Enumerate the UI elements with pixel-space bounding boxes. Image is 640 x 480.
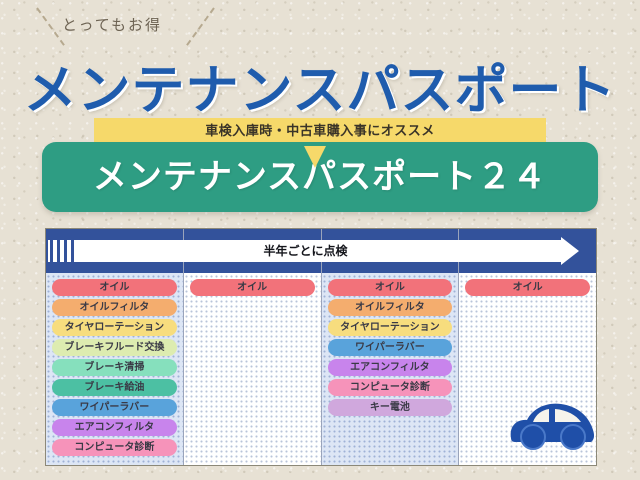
service-pill[interactable]: エアコンフィルタ <box>328 359 453 376</box>
service-pill[interactable]: オイル <box>190 279 315 296</box>
service-pill[interactable]: オイルフィルタ <box>52 299 177 316</box>
table-column-body-1: オイルオイルフィルタタイヤローテーションブレーキフルード交換ブレーキ清掃ブレーキ… <box>46 273 183 456</box>
service-pill[interactable]: キー電池 <box>328 399 453 416</box>
service-pill[interactable]: タイヤローテーション <box>52 319 177 336</box>
table-column-header-2 <box>184 229 321 273</box>
eyebrow-text: とってもお得 <box>62 14 162 35</box>
service-pill[interactable]: ブレーキフルード交換 <box>52 339 177 356</box>
table-column-3: オイルオイルフィルタタイヤローテーションワイパーラバーエアコンフィルタコンピュー… <box>322 229 460 465</box>
table-column-1: オイルオイルフィルタタイヤローテーションブレーキフルード交換ブレーキ清掃ブレーキ… <box>46 229 184 465</box>
service-pill[interactable]: コンピュータ診断 <box>328 379 453 396</box>
table-column-header-4 <box>459 229 596 273</box>
service-pill[interactable]: オイル <box>328 279 453 296</box>
service-pill[interactable]: オイル <box>52 279 177 296</box>
service-pill[interactable]: ワイパーラバー <box>52 399 177 416</box>
table-column-body-2: オイル <box>184 273 321 296</box>
service-pill[interactable]: オイルフィルタ <box>328 299 453 316</box>
page-title: メンテナンスパスポート <box>0 48 640 124</box>
table-column-body-4: オイル <box>459 273 596 296</box>
service-pill[interactable]: ブレーキ清掃 <box>52 359 177 376</box>
table-column-header-1 <box>46 229 183 273</box>
service-pill[interactable]: エアコンフィルタ <box>52 419 177 436</box>
service-pill[interactable]: コンピュータ診断 <box>52 439 177 456</box>
service-pill[interactable]: オイル <box>465 279 590 296</box>
table-column-header-3 <box>322 229 459 273</box>
dashed-line-right <box>186 7 215 45</box>
service-pill[interactable]: ブレーキ給油 <box>52 379 177 396</box>
promo-ribbon-pointer <box>304 146 326 168</box>
table-column-2: オイル <box>184 229 322 465</box>
service-pill[interactable]: ワイパーラバー <box>328 339 453 356</box>
car-icon <box>505 392 601 454</box>
eyebrow-group: とってもお得 <box>0 6 640 46</box>
table-column-body-3: オイルオイルフィルタタイヤローテーションワイパーラバーエアコンフィルタコンピュー… <box>322 273 459 416</box>
dashed-line-left <box>36 7 65 45</box>
service-pill[interactable]: タイヤローテーション <box>328 319 453 336</box>
